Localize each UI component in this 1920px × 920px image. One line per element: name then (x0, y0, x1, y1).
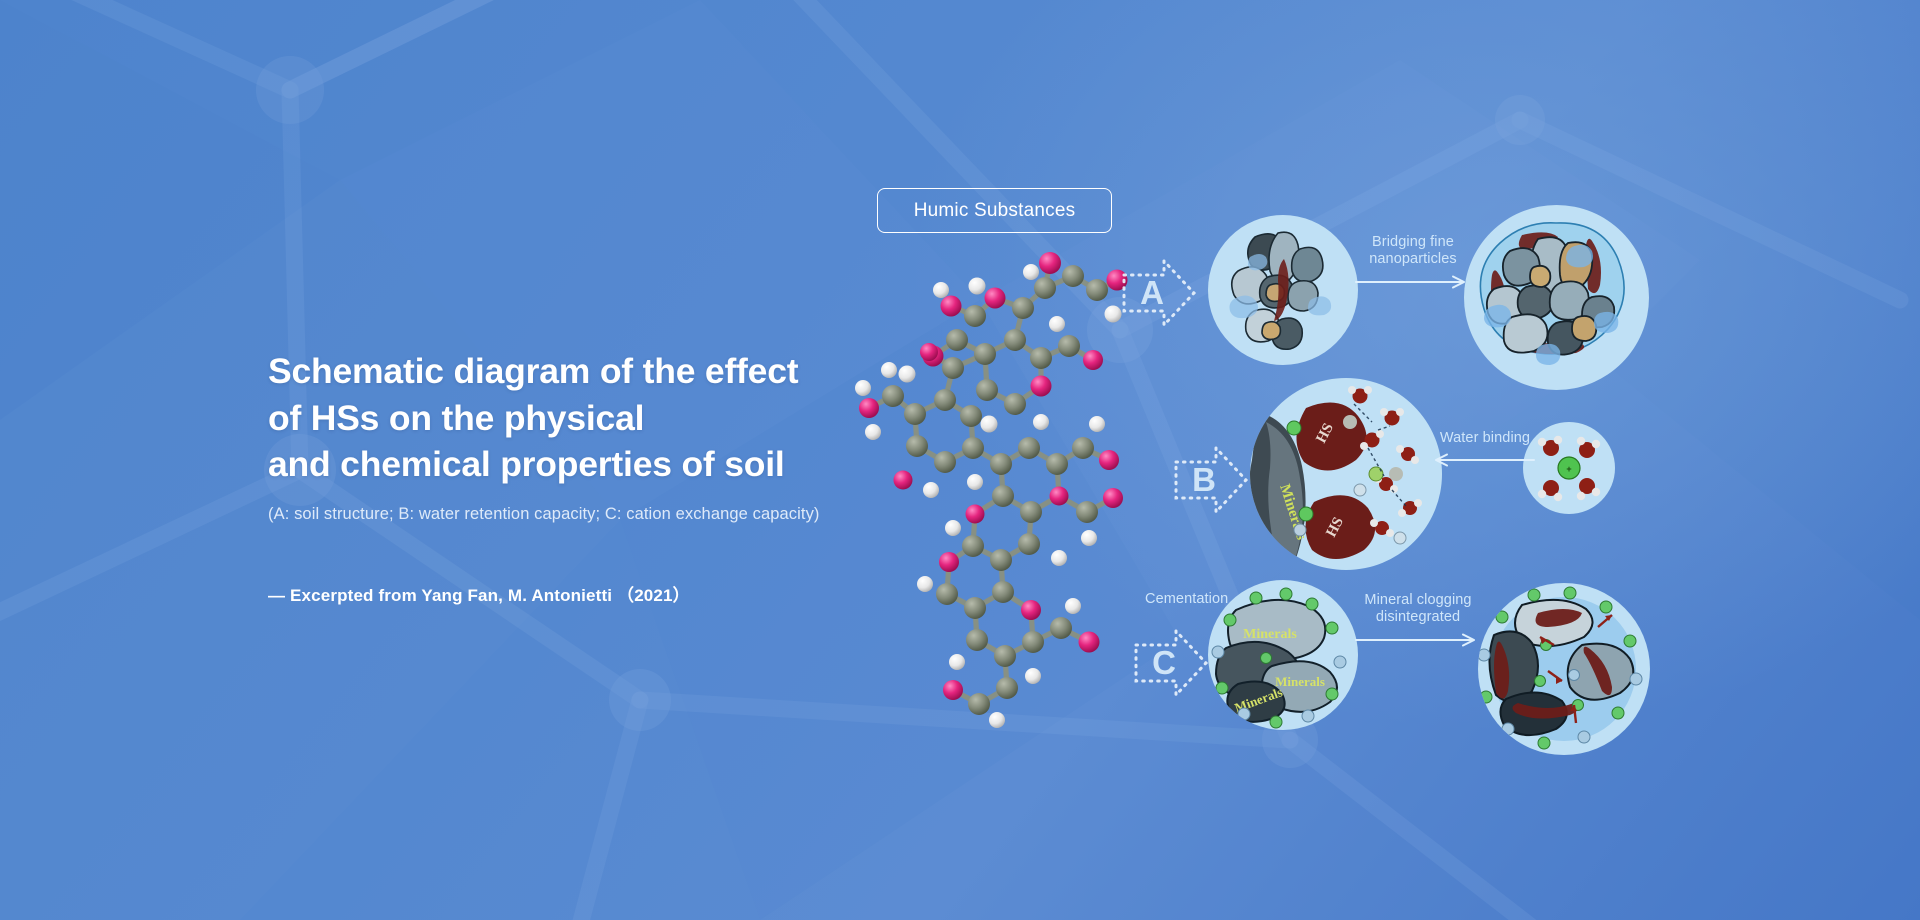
circle-hs-mineral-water-network: Minerals HS HS (1250, 378, 1442, 570)
headline-line-2: of HSs on the physical (268, 395, 908, 442)
soil-aggregate-loose-art (1208, 215, 1358, 365)
step-arrow-b: B (1172, 442, 1250, 518)
arrow-right-icon (1354, 633, 1482, 647)
step-arrow-a: A (1120, 255, 1198, 331)
circle-mineral-clogging: Minerals Minerals Minerals (1208, 580, 1358, 730)
attribution-year: （2021） (617, 586, 690, 605)
flow-a-label: Bridging fine nanoparticles (1369, 234, 1457, 269)
attribution-dash: — (268, 586, 285, 605)
headline-line-1: Schematic diagram of the effect (268, 348, 908, 395)
arrow-left-icon (1434, 453, 1536, 467)
circle-soil-aggregate-loose (1208, 215, 1358, 365)
circle-soil-aggregate-bridged (1464, 205, 1649, 390)
cementation-label: Cementation (1145, 591, 1228, 607)
hs-mineral-water-art: Minerals HS HS (1250, 378, 1442, 570)
soil-aggregate-bridged-art (1464, 205, 1649, 390)
flow-b: Water binding (1430, 430, 1540, 467)
page-title: Schematic diagram of the effect of HSs o… (268, 348, 908, 488)
text-block: Schematic diagram of the effect of HSs o… (268, 348, 908, 606)
cation-symbol: + (1566, 464, 1571, 474)
humic-substances-text: Humic Substances (914, 200, 1076, 222)
attribution-text: Excerpted from Yang Fan, M. Antonietti (290, 586, 612, 605)
arrow-right-icon (1354, 275, 1472, 289)
flow-a: Bridging fine nanoparticles (1348, 234, 1478, 289)
step-letter-c: C (1140, 625, 1188, 701)
circle-mineral-disintegrated-ions (1478, 583, 1650, 755)
mineral-disintegrated-art (1478, 583, 1650, 755)
mineral-clogging-art: Minerals Minerals Minerals (1208, 580, 1358, 730)
step-arrow-c: C (1132, 625, 1210, 701)
step-letter-a: A (1128, 255, 1176, 331)
minerals-label-1: Minerals (1243, 627, 1297, 642)
flow-c-label: Mineral clogging disintegrated (1364, 592, 1471, 627)
minerals-label-2: Minerals (1275, 674, 1325, 689)
poster-canvas: Schematic diagram of the effect of HSs o… (0, 0, 1920, 920)
flow-c: Mineral clogging disintegrated (1348, 592, 1488, 647)
step-letter-b: B (1180, 442, 1228, 518)
figure-caption: (A: soil structure; B: water retention c… (268, 505, 908, 524)
humic-substances-label: Humic Substances (877, 188, 1112, 233)
headline-line-3: and chemical properties of soil (268, 441, 908, 488)
attribution: — Excerpted from Yang Fan, M. Antonietti… (268, 581, 908, 606)
flow-b-label: Water binding (1440, 430, 1530, 447)
